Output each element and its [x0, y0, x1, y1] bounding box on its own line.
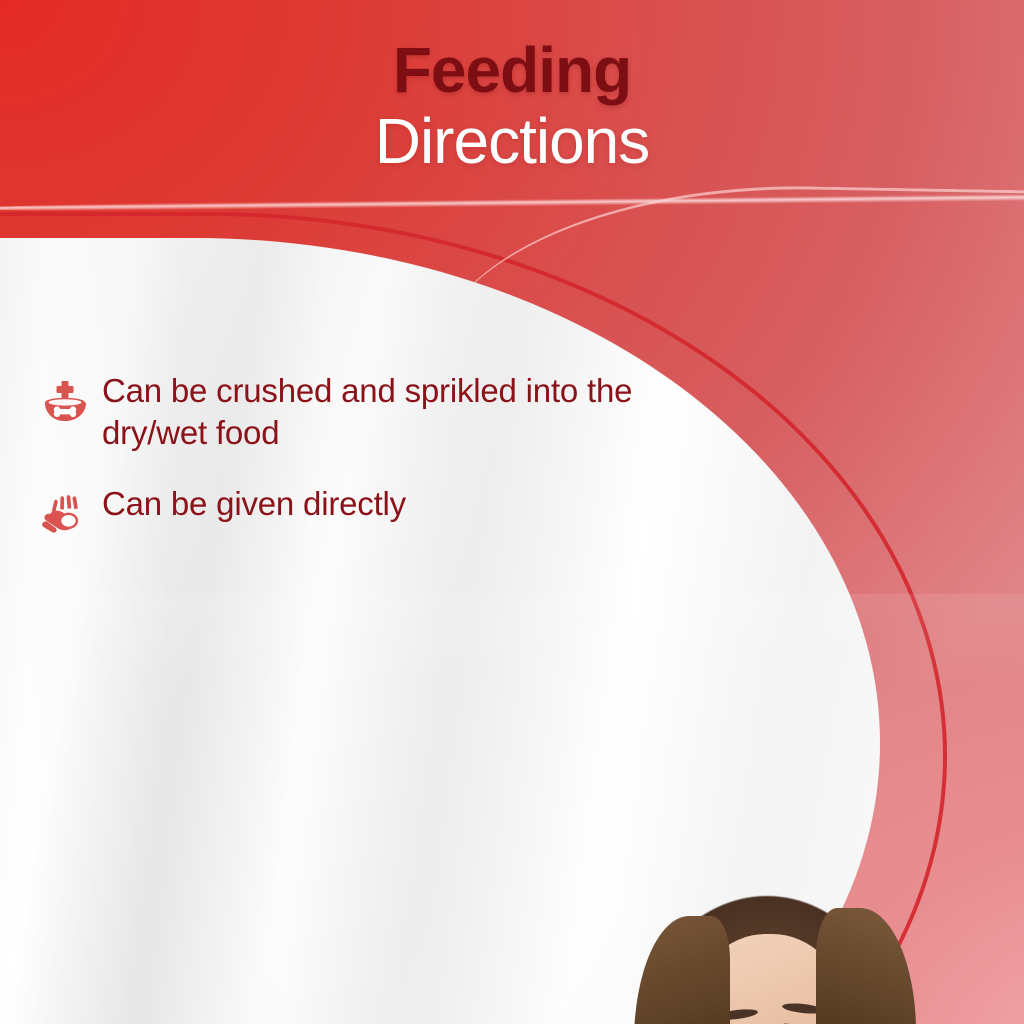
list-item-label: Can be crushed and sprikled into the dry…: [102, 368, 678, 453]
lifestyle-photo: [0, 464, 1024, 1024]
feeding-directions-poster: Feeding Directions: [0, 0, 1024, 1024]
page-title-line-1: Feeding: [0, 0, 1024, 103]
list-item: Can be crushed and sprikled into the dry…: [38, 368, 678, 453]
woman-hair-right: [816, 908, 916, 1024]
pet-food-bowl-plus-icon: [38, 376, 92, 430]
page-title-line-2: Directions: [0, 103, 1024, 174]
header-band: Feeding Directions: [0, 0, 1024, 205]
woman-hair-left: [634, 916, 730, 1024]
